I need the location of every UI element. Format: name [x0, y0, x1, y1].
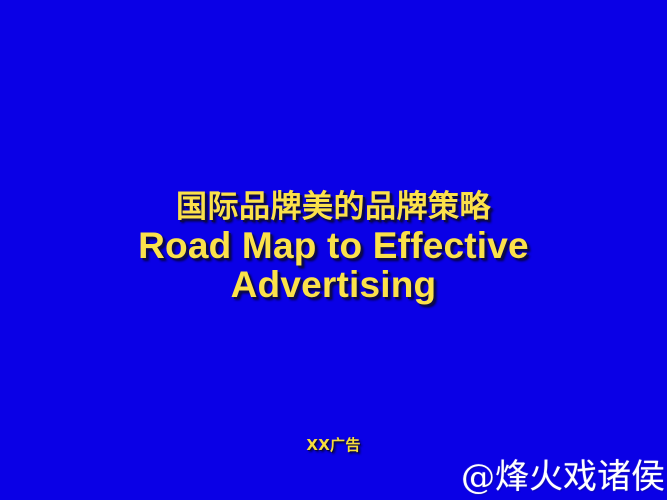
- watermark-text: @烽火戏诸侯: [461, 449, 665, 498]
- slide-title-block: 国际品牌美的品牌策略 Road Map to Effective Adverti…: [0, 192, 667, 303]
- slide-title-english-line-2: Advertising: [0, 266, 667, 303]
- presentation-slide: 国际品牌美的品牌策略 Road Map to Effective Adverti…: [0, 0, 667, 500]
- slide-title-english-line-1: Road Map to Effective: [0, 227, 667, 264]
- slide-subtitle-text: XX广告: [306, 434, 360, 455]
- slide-title-chinese: 国际品牌美的品牌策略: [0, 192, 667, 223]
